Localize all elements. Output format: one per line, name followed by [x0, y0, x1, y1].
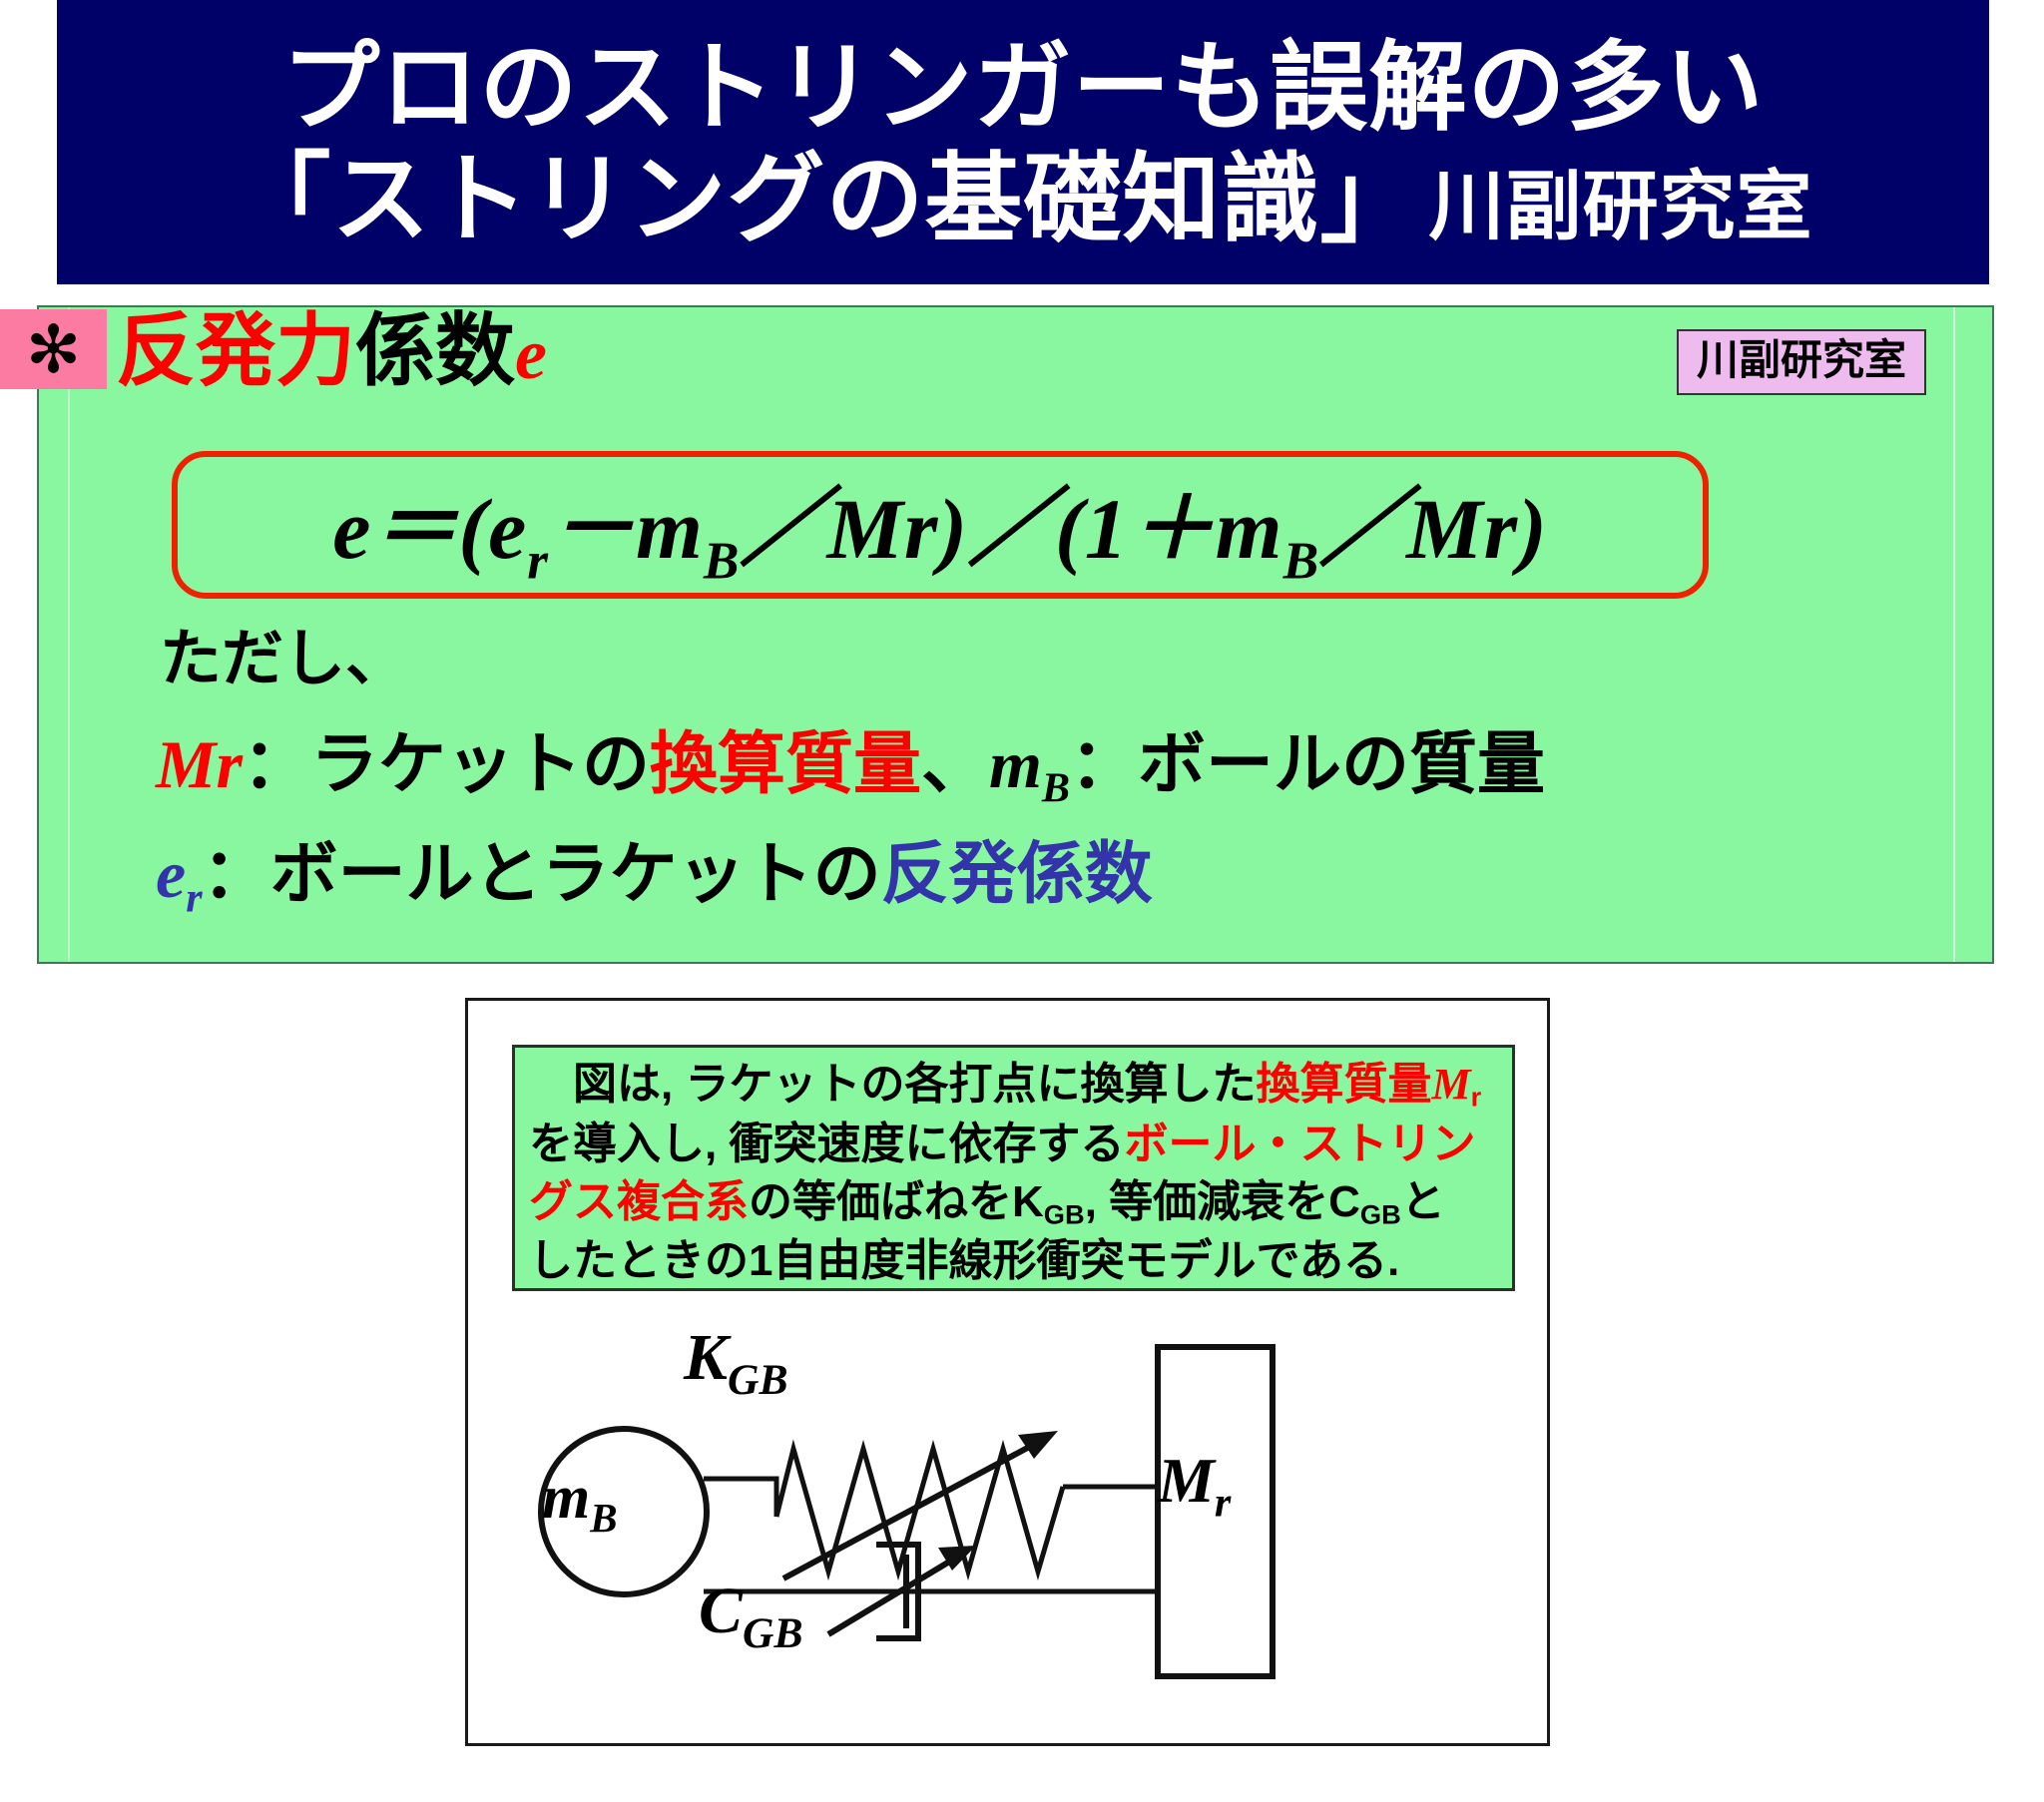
- definition-preamble: ただし、: [160, 629, 407, 690]
- formula-mid1-sub: B: [704, 531, 741, 591]
- caption-line-1: 図は, ラケットの各打点に換算した換算質量Mr: [529, 1056, 1500, 1116]
- definition-mr-text1: ：ラケットの: [243, 726, 650, 802]
- definition-er-text1: ：ボールとラケットの: [203, 836, 881, 912]
- caption-line-3-black-c: と: [1401, 1177, 1445, 1226]
- caption-line-3-sub-b: GB: [1360, 1198, 1401, 1229]
- formula-tail: ／Mr): [1319, 481, 1548, 577]
- formula-expression: e＝(er－mB／Mr)／(1＋mB／Mr): [332, 458, 1547, 591]
- caption-line-2-black: を導入し, 衝突速度に依存する: [529, 1120, 1124, 1168]
- caption-line-4: したときの1自由度非線形衝突モデルである.: [529, 1232, 1500, 1290]
- definition-er-symbol: e: [156, 836, 186, 912]
- racket-mass-symbol: M: [1158, 1445, 1215, 1516]
- racket-mass-label: Mr: [1158, 1449, 1231, 1525]
- section-heading: 反発力係数e: [116, 311, 547, 391]
- definition-mr-text2: 、: [921, 726, 989, 802]
- spring-connector-left: [704, 1479, 776, 1517]
- title-line-2: 「ストリングの基礎知識」: [233, 150, 1418, 247]
- damping-constant-label: CGB: [699, 1578, 803, 1655]
- racket-mass-subscript: r: [1215, 1479, 1231, 1526]
- title-line-1: プロのストリンガーも誤解の多い: [281, 38, 1764, 136]
- ball-mass-subscript: B: [590, 1496, 617, 1541]
- caption-line-3-red: グス複合系: [529, 1177, 749, 1226]
- lab-badge: 川副研究室: [1677, 329, 1926, 395]
- formula-mid2-sub: B: [1283, 531, 1320, 591]
- collision-model-svg: [499, 1317, 1517, 1716]
- formula-lhs-sub: r: [527, 531, 549, 591]
- panel-inner-rule-right: [1953, 307, 1955, 962]
- definition-mb-symbol-sub: B: [1042, 764, 1070, 811]
- definition-mr-symbol: Mr: [156, 726, 243, 802]
- damping-constant-symbol: C: [699, 1575, 743, 1647]
- caption-line-1-black: 図は, ラケットの各打点に換算した: [529, 1060, 1256, 1109]
- definition-mb-text: ：ボールの質量: [1070, 726, 1545, 802]
- formula-mid2: ／Mr)／(1＋m: [740, 481, 1282, 577]
- title-lab-name: 川副研究室: [1429, 170, 1813, 245]
- definition-mr-highlight: 換算質量: [650, 726, 921, 802]
- asterisk-glyph: ✻: [26, 316, 81, 382]
- caption-line-2: を導入し, 衝突速度に依存するボール・ストリン: [529, 1116, 1500, 1173]
- collision-model-diagram: KGB CGB mB Mr: [499, 1317, 1517, 1716]
- formula-mid1: －m: [549, 481, 704, 577]
- section-heading-symbol: e: [515, 314, 547, 394]
- panel-inner-rule-left: [68, 307, 70, 962]
- definition-er-symbol-sub: r: [186, 874, 202, 921]
- spring-constant-label: KGB: [684, 1325, 788, 1402]
- caption-line-3-black-a: の等価ばねをK: [749, 1177, 1044, 1226]
- ball-mass-label: mB: [542, 1467, 618, 1540]
- definition-er-highlight: 反発係数: [881, 836, 1153, 912]
- ball-mass-symbol: m: [542, 1464, 590, 1532]
- lab-badge-label: 川副研究室: [1697, 336, 1906, 383]
- caption-line-2-red: ボール・ストリン: [1124, 1120, 1475, 1168]
- caption-line-1-red-sub: r: [1471, 1082, 1482, 1113]
- definition-mb-symbol: m: [989, 726, 1042, 802]
- title-line-2-row: 「ストリングの基礎知識」 川副研究室: [233, 150, 1812, 247]
- damping-constant-subscript: GB: [743, 1609, 803, 1657]
- definition-mr: Mr：ラケットの換算質量、mB：ボールの質量: [156, 730, 1545, 809]
- section-heading-red: 反発力: [116, 306, 355, 395]
- caption-line-1-red: 換算質量: [1256, 1060, 1431, 1109]
- formula-lhs: e＝(e: [332, 481, 527, 577]
- spring-variable-arrow-head: [1018, 1431, 1058, 1459]
- asterisk-bullet-icon: ✻: [0, 309, 107, 389]
- caption-line-3-black-b: , 等価減衰をC: [1085, 1177, 1360, 1226]
- title-banner: プロのストリンガーも誤解の多い 「ストリングの基礎知識」 川副研究室: [57, 0, 1989, 284]
- figure-caption-box: 図は, ラケットの各打点に換算した換算質量Mr を導入し, 衝突速度に依存するボ…: [512, 1045, 1515, 1291]
- caption-line-1-red-var: M: [1431, 1060, 1470, 1109]
- caption-line-3-sub-a: GB: [1044, 1198, 1085, 1229]
- spring-constant-subscript: GB: [728, 1356, 788, 1404]
- definition-er: er：ボールとラケットの反発係数: [156, 840, 1153, 919]
- formula-box: e＝(er－mB／Mr)／(1＋mB／Mr): [172, 451, 1709, 599]
- spring-constant-symbol: K: [684, 1321, 728, 1394]
- caption-line-3: グス複合系の等価ばねをKGB, 等価減衰をCGBと: [529, 1173, 1500, 1233]
- section-heading-black: 係数: [355, 306, 515, 395]
